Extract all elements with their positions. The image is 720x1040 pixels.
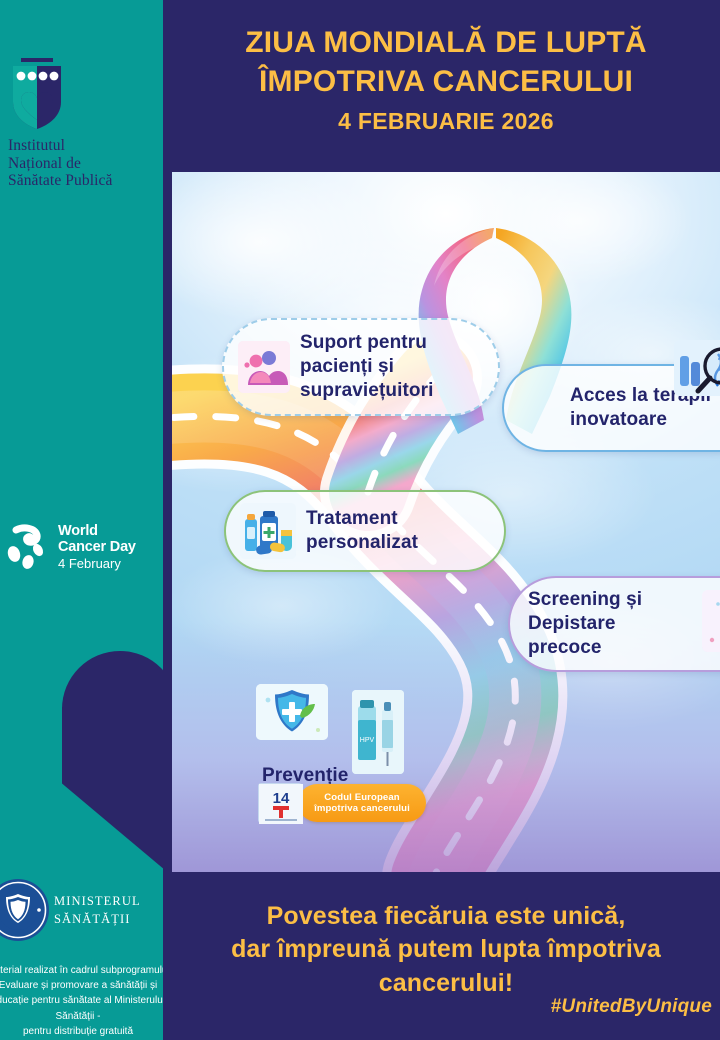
cells-magnifier-icon bbox=[702, 590, 720, 652]
sidebar-divider bbox=[163, 0, 172, 1040]
fineprint-line1: Material realizat în cadrul subprogramul… bbox=[0, 963, 163, 978]
callout-support-line2: pacienți și bbox=[300, 355, 433, 379]
poster-header: ZIUA MONDIALĂ DE LUPTĂ ÎMPOTRIVA CANCERU… bbox=[172, 0, 720, 172]
callout-access-line2: inovatoare bbox=[570, 408, 711, 432]
poster-footer: Povestea fiecăruia este unică, dar împre… bbox=[172, 872, 720, 1040]
shield-cross-leaf-icon bbox=[256, 684, 328, 740]
callout-screening-line2: Depistare bbox=[528, 612, 642, 636]
page-title-line2: ÎMPOTRIVA CANCERULUI bbox=[259, 63, 633, 102]
callout-screening[interactable]: Screening și Depistare precoce bbox=[508, 576, 720, 672]
callout-treatment-line2: personalizat bbox=[306, 531, 418, 555]
ministry-line2: SĂNĂTĂȚII bbox=[54, 910, 141, 928]
shield-heart-icon bbox=[8, 58, 66, 130]
callout-treatment-line1: Tratament bbox=[306, 507, 418, 531]
callout-treatment-label: Tratament personalizat bbox=[306, 507, 418, 555]
left-sidebar: Institutul Național de Sănătate Publică … bbox=[0, 0, 163, 1040]
ministry-block: MINISTERUL SĂNĂTĂȚII bbox=[0, 878, 163, 942]
callout-screening-line1: Screening și bbox=[528, 588, 642, 612]
hpv-vaccine-vial-icon: HPV bbox=[352, 690, 404, 774]
wcd-dots-icon bbox=[6, 524, 52, 572]
insp-line3: Sănătate Publică bbox=[8, 172, 136, 190]
slogan: Povestea fiecăruia este unică, dar împre… bbox=[188, 900, 704, 1000]
slogan-line1: Povestea fiecăruia este unică, bbox=[188, 900, 704, 933]
world-cancer-day-logo: World Cancer Day 4 February bbox=[6, 524, 156, 572]
callout-screening-line3: precoce bbox=[528, 636, 642, 660]
hashtag: #UnitedByUnique bbox=[551, 996, 712, 1018]
fineprint-line2: Evaluare și promovare a sănătății și bbox=[0, 978, 163, 993]
fineprint-line5: pentru distribuție gratuită bbox=[0, 1024, 163, 1039]
callout-treatment[interactable]: Tratament personalizat bbox=[224, 490, 506, 572]
european-code-text: Codul European împotriva cancerului bbox=[298, 784, 426, 822]
european-code-banner[interactable]: 14 Codul European împotriva cancerului bbox=[258, 780, 426, 826]
fineprint-line4: Sănătății - bbox=[0, 1009, 163, 1024]
european-code-line1: Codul European bbox=[324, 792, 400, 804]
event-date: 4 FEBRUARIE 2026 bbox=[338, 108, 554, 135]
insp-logo: Institutul Național de Sănătate Publică bbox=[8, 58, 136, 190]
poster-root: Institutul Național de Sănătate Publică … bbox=[0, 0, 720, 1040]
wcd-line2: Cancer Day bbox=[58, 540, 136, 556]
insp-line1: Institutul bbox=[8, 137, 136, 155]
fineprint-line3: educație pentru sănătate al Ministerului bbox=[0, 993, 163, 1008]
slogan-line3: cancerului! bbox=[188, 967, 704, 1000]
medicine-bottles-icon bbox=[240, 503, 296, 559]
svg-text:14: 14 bbox=[273, 790, 290, 807]
magnifier-dna-pills-icon bbox=[674, 340, 720, 396]
wcd-line1: World bbox=[58, 524, 136, 540]
page-title-line1: ZIUA MONDIALĂ DE LUPTĂ bbox=[245, 24, 647, 63]
insp-line2: Național de bbox=[8, 155, 136, 173]
ministry-name: MINISTERUL SĂNĂTĂȚII bbox=[54, 892, 141, 928]
main-illustration: Suport pentru pacienți și supraviețuitor… bbox=[172, 172, 720, 872]
fineprint-block: Material realizat în cadrul subprogramul… bbox=[0, 963, 163, 1039]
patient-support-people-icon bbox=[238, 341, 290, 393]
callout-support[interactable]: Suport pentru pacienți și supraviețuitor… bbox=[222, 318, 500, 416]
callout-support-label: Suport pentru pacienți și supraviețuitor… bbox=[300, 331, 433, 403]
slogan-line2: dar împreună putem lupta împotriva bbox=[188, 933, 704, 966]
european-code-14-badge: 14 bbox=[258, 783, 302, 823]
callout-support-line1: Suport pentru bbox=[300, 331, 433, 355]
wcd-line3: 4 February bbox=[58, 557, 136, 572]
insp-name: Institutul Național de Sănătate Publică bbox=[8, 137, 136, 190]
government-of-romania-seal-icon bbox=[0, 878, 50, 942]
svg-text:HPV: HPV bbox=[360, 737, 375, 744]
callout-support-line3: supraviețuitori bbox=[300, 379, 433, 403]
european-code-line2: împotriva cancerului bbox=[314, 803, 410, 815]
callout-screening-label: Screening și Depistare precoce bbox=[528, 588, 642, 660]
half-heart-decoration bbox=[62, 651, 163, 881]
ministry-line1: MINISTERUL bbox=[54, 892, 141, 910]
